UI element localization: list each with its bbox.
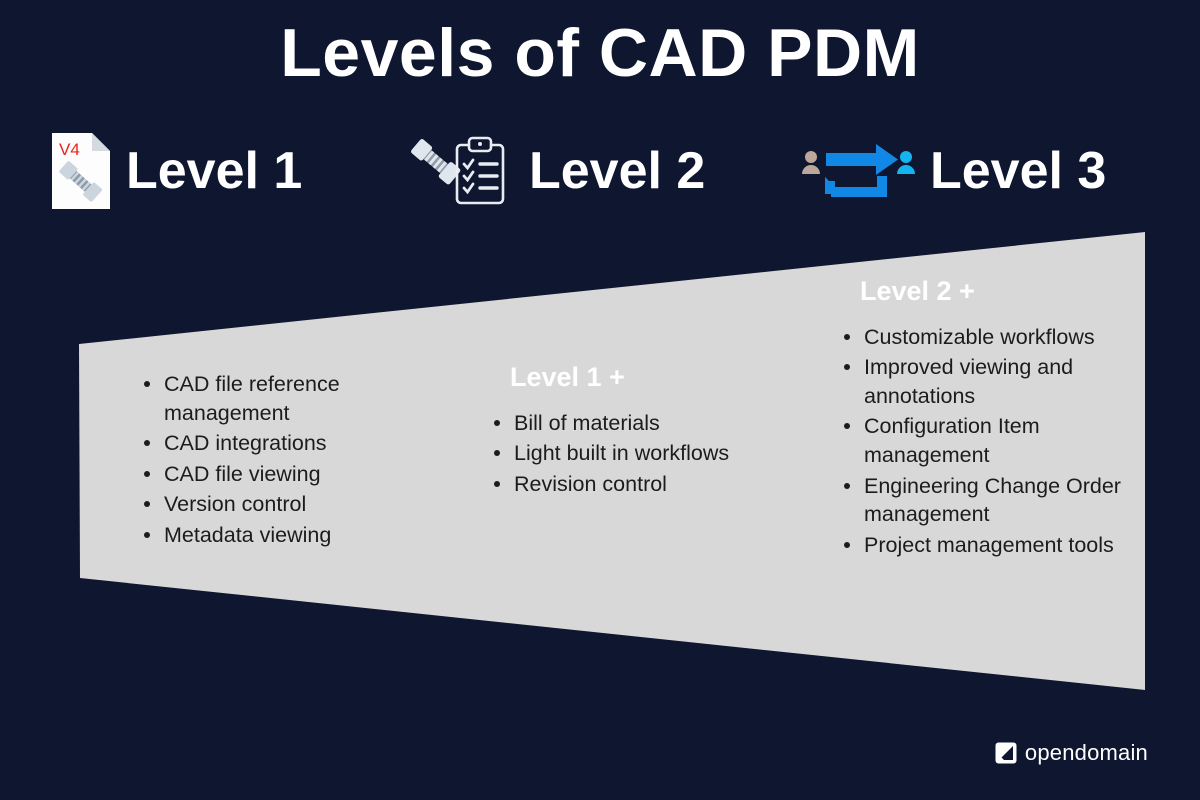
level-1-feature-list: CAD file reference management CAD integr… xyxy=(132,370,432,550)
footer-logo-text: opendomain xyxy=(1025,742,1148,764)
cad-file-icon: V4 xyxy=(50,131,112,211)
person-right-icon xyxy=(897,151,915,174)
level-2-column-heading: Level 1 + xyxy=(510,363,782,393)
level-2-column: Level 1 + Bill of materials Light built … xyxy=(482,363,782,500)
person-left-icon xyxy=(802,151,820,174)
level-3-column: Level 2 + Customizable workflows Improve… xyxy=(832,277,1152,561)
footer-logo: opendomain xyxy=(995,742,1148,764)
list-item: Project management tools xyxy=(864,531,1152,560)
level-2-feature-list: Bill of materials Light built in workflo… xyxy=(482,409,782,499)
levels-header-row: V4 Level 1 xyxy=(0,126,1200,216)
bolt-clipboard-icon xyxy=(405,131,515,211)
level-1-label: Level 1 xyxy=(126,145,302,197)
list-item: Metadata viewing xyxy=(164,521,432,550)
svg-text:V4: V4 xyxy=(59,140,80,159)
level-3-label: Level 3 xyxy=(930,145,1106,197)
level-1-header: V4 Level 1 xyxy=(50,126,302,216)
list-item: CAD file viewing xyxy=(164,460,432,489)
list-item: Engineering Change Order management xyxy=(864,472,1152,529)
list-item: Light built in workflows xyxy=(514,439,782,468)
list-item: Configuration Item management xyxy=(864,412,1152,469)
level-3-feature-list: Customizable workflows Improved viewing … xyxy=(832,323,1152,560)
list-item: Bill of materials xyxy=(514,409,782,438)
return-arrow-icon xyxy=(825,176,887,197)
level-3-column-heading: Level 2 + xyxy=(860,277,1152,307)
opendomain-logo-icon xyxy=(995,742,1017,764)
forward-arrow-icon xyxy=(826,144,898,175)
workflow-handoff-icon xyxy=(798,136,916,206)
level-1-column: CAD file reference management CAD integr… xyxy=(132,370,432,552)
list-item: Customizable workflows xyxy=(864,323,1152,352)
level-2-label: Level 2 xyxy=(529,145,705,197)
list-item: Revision control xyxy=(514,470,782,499)
list-item: Version control xyxy=(164,490,432,519)
list-item: Improved viewing and annotations xyxy=(864,353,1152,410)
level-2-header: Level 2 xyxy=(405,126,705,216)
list-item: CAD file reference management xyxy=(164,370,432,427)
level-3-header: Level 3 xyxy=(798,126,1106,216)
list-item: CAD integrations xyxy=(164,429,432,458)
